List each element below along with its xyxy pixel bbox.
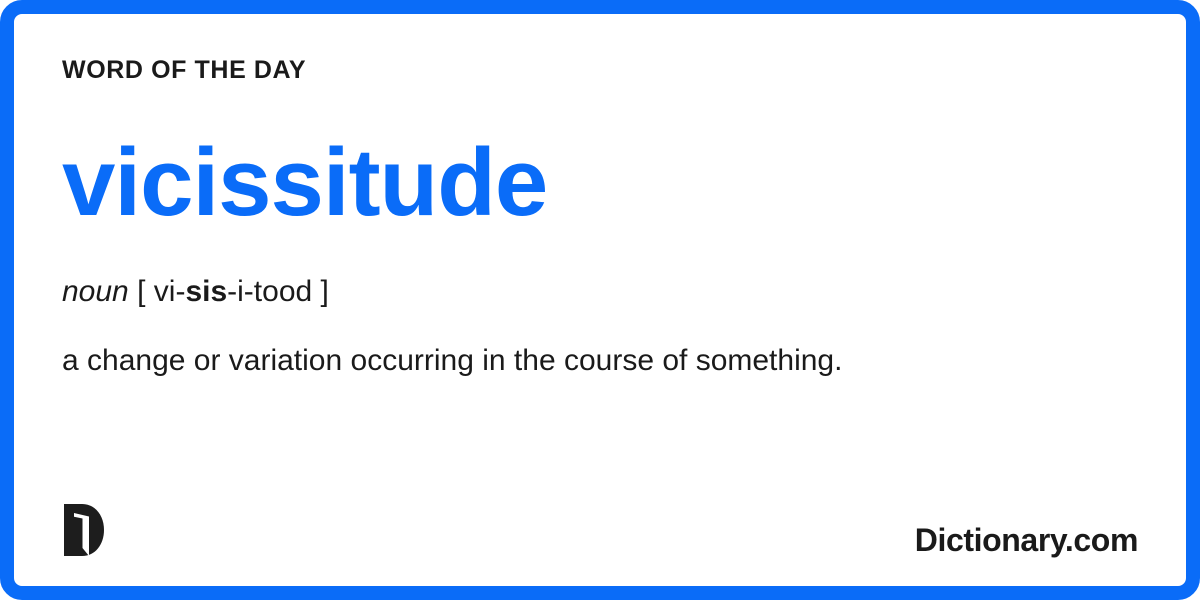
phonetic-before: vi- <box>154 275 186 308</box>
content-spacer <box>62 380 1138 505</box>
card-footer: Dictionary.com <box>62 504 1138 556</box>
word-of-the-day-card: WORD OF THE DAY vicissitude noun [ vi-si… <box>0 0 1200 600</box>
headword: vicissitude <box>62 135 1138 231</box>
card-eyebrow-label: WORD OF THE DAY <box>62 58 1138 83</box>
dictionary-d-monogram-icon <box>62 504 106 556</box>
phonetic-after: -i-tood <box>227 275 312 308</box>
phonetic-bracket-close: ] <box>321 275 329 308</box>
phonetic-stressed-syllable: sis <box>185 275 227 308</box>
part-of-speech: noun <box>62 275 129 308</box>
definition-text: a change or variation occurring in the c… <box>62 342 1138 380</box>
pronunciation-line: noun [ vi-sis-i-tood ] <box>62 275 1138 308</box>
dictionary-wordmark: Dictionary.com <box>915 524 1138 556</box>
card-content: WORD OF THE DAY vicissitude noun [ vi-si… <box>14 14 1186 586</box>
